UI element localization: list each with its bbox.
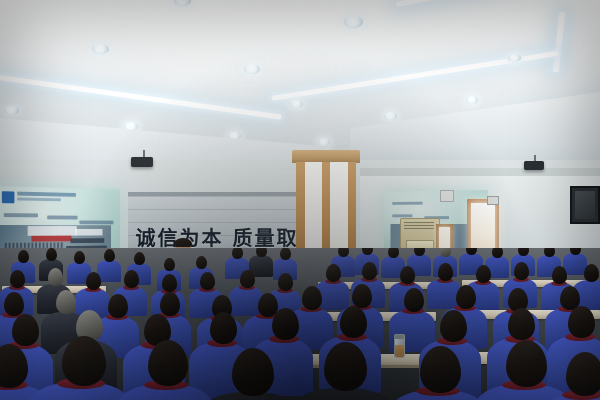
wall-sign bbox=[487, 196, 499, 205]
tea-tumbler[interactable] bbox=[394, 334, 405, 358]
tumbler-lid bbox=[395, 335, 404, 339]
slide-caption-1 bbox=[4, 213, 39, 217]
tumbler-contents bbox=[395, 345, 404, 357]
downlight bbox=[244, 64, 260, 74]
wall-mounted-box bbox=[440, 190, 454, 202]
downlight bbox=[344, 16, 363, 28]
collage-clipping bbox=[28, 226, 77, 235]
downlight bbox=[92, 44, 109, 54]
projector-right bbox=[524, 161, 544, 170]
wall-picture-frame bbox=[570, 186, 600, 224]
seminar-photo-scene: 诚信为本 质量取胜 bbox=[0, 0, 600, 400]
downlight bbox=[508, 54, 521, 62]
collage-headline-red bbox=[31, 236, 71, 242]
collage-clipping-2 bbox=[75, 229, 103, 235]
projector-left bbox=[131, 157, 153, 167]
collage-headline-dark bbox=[71, 238, 105, 243]
right-slide-caption-2 bbox=[392, 214, 412, 217]
right-slide-caption-1 bbox=[392, 201, 422, 204]
audience-area bbox=[0, 248, 600, 400]
right-wall-trim bbox=[360, 168, 600, 176]
downlight bbox=[4, 106, 19, 115]
downlight bbox=[466, 96, 478, 104]
downlight bbox=[318, 138, 330, 146]
wall-picture-inner bbox=[575, 191, 595, 219]
air-conditioner-vent bbox=[404, 222, 434, 231]
slide-caption-2 bbox=[47, 216, 77, 220]
downlight bbox=[384, 112, 397, 120]
ceiling bbox=[0, 0, 600, 175]
slide-logo-mark bbox=[2, 191, 14, 203]
downlight bbox=[290, 100, 303, 108]
